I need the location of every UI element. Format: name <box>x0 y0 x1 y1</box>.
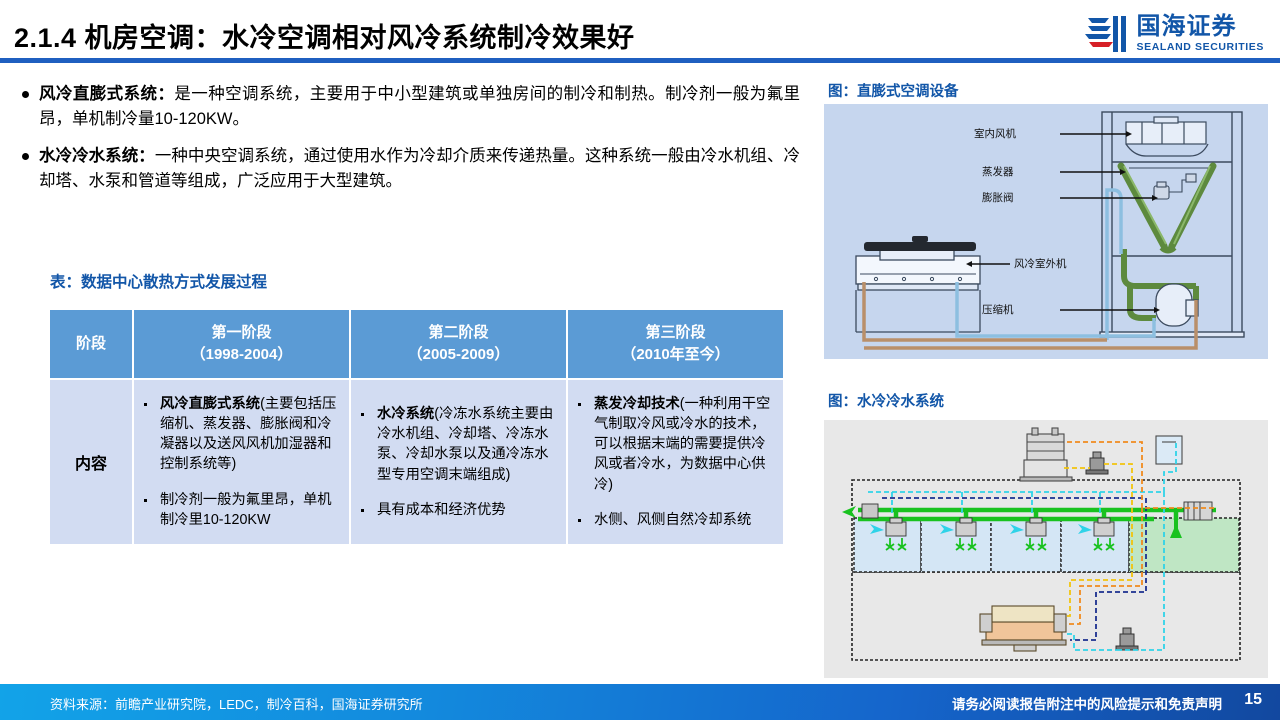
header-line-1: 第二阶段 <box>355 322 562 344</box>
bullet-item: 水冷冷水系统：一种中央空调系统，通过使用水作为冷却介质来传递热量。这种系统一般由… <box>0 144 812 194</box>
title-divider <box>0 58 1280 63</box>
table-row-label-cell: 内容 <box>49 379 133 546</box>
bullet-item: 风冷直膨式系统：是一种空调系统，主要用于中小型建筑或单独房间的制冷和制热。制冷剂… <box>0 82 812 132</box>
cell-bullet-list: 水冷系统(冷冻水系统主要由冷水机组、冷却塔、冷冻水泵、冷却水泵以及通冷冻水型专用… <box>351 390 566 534</box>
cell-term: 风冷直膨式系统 <box>160 396 260 412</box>
row-label: 内容 <box>50 450 132 474</box>
bullet-dot-icon <box>22 91 29 98</box>
bullet-text: 水冷冷水系统：一种中央空调系统，通过使用水作为冷却介质来传递热量。这种系统一般由… <box>39 144 800 194</box>
table-header-phase-2: 第二阶段 （2005-2009） <box>350 309 567 379</box>
cell-term: 蒸发冷却技术 <box>594 396 680 412</box>
cell-bullet: 风冷直膨式系统(主要包括压缩机、蒸发器、膨胀阀和冷凝器以及送风风机加湿器和控制系… <box>144 394 341 475</box>
cell-text: 具有成本和经济优势 <box>377 500 558 520</box>
left-content-column: 风冷直膨式系统：是一种空调系统，主要用于中小型建筑或单独房间的制冷和制热。制冷剂… <box>0 74 812 684</box>
bullet-square-icon <box>361 413 364 416</box>
header-line-1: 第三阶段 <box>572 322 779 344</box>
table-header-stage: 阶段 <box>49 309 133 379</box>
header-line-1: 阶段 <box>54 333 128 355</box>
header-line-2: （2010年至今） <box>572 344 779 366</box>
footer-bar: 资料来源：前瞻产业研究院，LEDC，制冷百科，国海证券研究所 请务必阅读报告附注… <box>0 684 1280 720</box>
table-cell-phase-1: 风冷直膨式系统(主要包括压缩机、蒸发器、膨胀阀和冷凝器以及送风风机加湿器和控制系… <box>133 379 350 546</box>
header-line-1: 第一阶段 <box>138 322 345 344</box>
figure-1-direct-expansion-ac-diagram: 室内风机 蒸发器 膨胀阀 风冷室外机 压缩机 <box>824 104 1268 359</box>
bullet-dot-icon <box>22 153 29 160</box>
table-cell-phase-2: 水冷系统(冷冻水系统主要由冷水机组、冷却塔、冷冻水泵、冷却水泵以及通冷冻水型专用… <box>350 379 567 546</box>
cell-text: 风冷直膨式系统(主要包括压缩机、蒸发器、膨胀阀和冷凝器以及送风风机加湿器和控制系… <box>160 394 341 475</box>
bullet-square-icon <box>578 403 581 406</box>
bullet-term: 水冷冷水系统： <box>39 147 155 165</box>
cell-text: 蒸发冷却技术(一种利用干空气制取冷风或冷水的技术，可以根据末端的需要提供冷风或者… <box>594 394 775 495</box>
bullet-square-icon <box>144 499 147 502</box>
header-line-2: （2005-2009） <box>355 344 562 366</box>
table-header-row: 阶段 第一阶段 （1998-2004） 第二阶段 （2005-2009） 第三阶… <box>49 309 784 379</box>
footer-disclaimer-text: 请务必阅读报告附注中的风险提示和免责声明 <box>952 693 1222 713</box>
brand-logo: 国海证券 SEALAND SECURITIES <box>1085 14 1264 54</box>
stage-development-table: 阶段 第一阶段 （1998-2004） 第二阶段 （2005-2009） 第三阶… <box>48 308 785 546</box>
figure-label-expansion-valve: 膨胀阀 <box>982 190 1014 205</box>
cell-bullet-list: 蒸发冷却技术(一种利用干空气制取冷风或冷水的技术，可以根据末端的需要提供冷风或者… <box>568 380 783 545</box>
table-header-phase-3: 第三阶段 （2010年至今） <box>567 309 784 379</box>
figure-1-caption: 图：直膨式空调设备 <box>828 80 959 101</box>
bullet-text: 风冷直膨式系统：是一种空调系统，主要用于中小型建筑或单独房间的制冷和制热。制冷剂… <box>39 82 800 132</box>
cell-term: 水冷系统 <box>377 406 434 422</box>
table-caption: 表：数据中心散热方式发展过程 <box>50 270 267 292</box>
bullet-square-icon <box>578 519 581 522</box>
cell-bullet-list: 风冷直膨式系统(主要包括压缩机、蒸发器、膨胀阀和冷凝器以及送风风机加湿器和控制系… <box>134 380 349 545</box>
figure-2-chilled-water-system-diagram <box>824 420 1268 678</box>
cell-bullet: 水冷系统(冷冻水系统主要由冷水机组、冷却塔、冷冻水泵、冷却水泵以及通冷冻水型专用… <box>361 404 558 485</box>
figure-label-indoor-fan: 室内风机 <box>974 126 1016 141</box>
header-line-2: （1998-2004） <box>138 344 345 366</box>
cell-text: 水冷系统(冷冻水系统主要由冷水机组、冷却塔、冷冻水泵、冷却水泵以及通冷冻水型专用… <box>377 404 558 485</box>
sealand-logo-icon <box>1085 14 1129 54</box>
figure-label-evaporator: 蒸发器 <box>982 164 1014 179</box>
page-number: 15 <box>1244 691 1262 709</box>
figure-2-caption: 图：水冷冷水系统 <box>828 390 944 411</box>
bullet-square-icon <box>144 403 147 406</box>
bullet-term: 风冷直膨式系统： <box>39 85 174 103</box>
cell-bullet: 蒸发冷却技术(一种利用干空气制取冷风或冷水的技术，可以根据末端的需要提供冷风或者… <box>578 394 775 495</box>
table-cell-phase-3: 蒸发冷却技术(一种利用干空气制取冷风或冷水的技术，可以根据末端的需要提供冷风或者… <box>567 379 784 546</box>
cell-text: 制冷剂一般为氟里昂，单机制冷里10-120KW <box>160 490 341 531</box>
figure-label-outdoor-unit: 风冷室外机 <box>1014 256 1067 271</box>
cell-text: 水侧、风侧自然冷却系统 <box>594 510 775 530</box>
dx-ac-schematic <box>824 104 1268 359</box>
brand-name-en: SEALAND SECURITIES <box>1137 42 1264 53</box>
cell-bullet: 水侧、风侧自然冷却系统 <box>578 510 775 530</box>
cell-bullet: 制冷剂一般为氟里昂，单机制冷里10-120KW <box>144 490 341 531</box>
table-header-phase-1: 第一阶段 （1998-2004） <box>133 309 350 379</box>
cell-bullet: 具有成本和经济优势 <box>361 500 558 520</box>
table-row: 内容 风冷直膨式系统(主要包括压缩机、蒸发器、膨胀阀和冷凝器以及送风风机加湿器和… <box>49 379 784 546</box>
bullet-square-icon <box>361 509 364 512</box>
chilled-water-schematic <box>824 420 1268 678</box>
brand-name-cn: 国海证券 <box>1137 15 1264 39</box>
page-title: 2.1.4 机房空调：水冷空调相对风冷系统制冷效果好 <box>14 16 635 55</box>
footer-source-text: 资料来源：前瞻产业研究院，LEDC，制冷百科，国海证券研究所 <box>50 694 423 713</box>
figure-label-compressor: 压缩机 <box>982 302 1014 317</box>
